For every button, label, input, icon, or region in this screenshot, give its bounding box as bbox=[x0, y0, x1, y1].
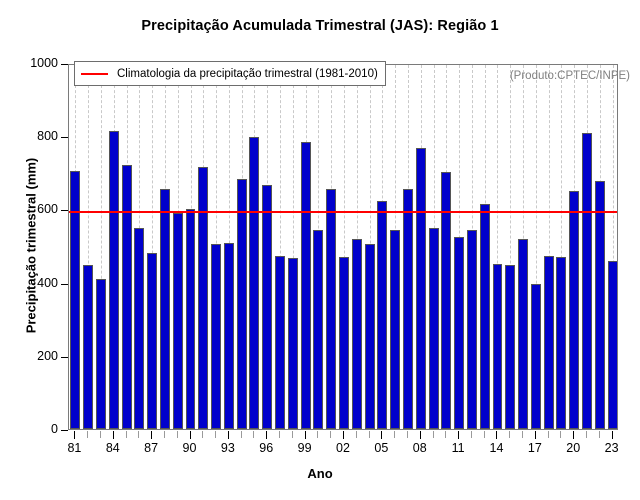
bar-87 bbox=[147, 253, 157, 429]
bar-83 bbox=[96, 279, 106, 429]
x-axis-tick bbox=[228, 431, 229, 439]
x-axis-tick bbox=[266, 431, 267, 439]
x-axis-tick bbox=[496, 431, 497, 439]
x-axis-tick bbox=[343, 431, 344, 439]
y-axis-tick-label: 800 bbox=[0, 129, 58, 143]
x-axis-tick-label: 93 bbox=[208, 441, 248, 455]
y-axis-tick-label: 400 bbox=[0, 276, 58, 290]
bar-15 bbox=[505, 265, 515, 429]
bar-21 bbox=[582, 133, 592, 429]
bar-08 bbox=[416, 148, 426, 429]
bar-11 bbox=[454, 237, 464, 429]
x-axis-tick bbox=[292, 431, 293, 438]
y-axis-tick-label: 0 bbox=[0, 422, 58, 436]
x-axis-tick bbox=[407, 431, 408, 438]
x-axis-tick bbox=[394, 431, 395, 438]
bar-00 bbox=[313, 230, 323, 429]
x-axis-tick bbox=[164, 431, 165, 438]
x-axis-tick bbox=[509, 431, 510, 438]
x-axis-tick bbox=[190, 431, 191, 439]
bar-97 bbox=[275, 256, 285, 429]
x-axis-tick bbox=[74, 431, 75, 439]
x-axis-tick bbox=[317, 431, 318, 438]
bar-01 bbox=[326, 189, 336, 429]
x-axis-tick-label: 11 bbox=[438, 441, 478, 455]
y-axis-tick-label: 1000 bbox=[0, 56, 58, 70]
bar-91 bbox=[198, 167, 208, 429]
legend-item-label: Climatologia da precipitação trimestral … bbox=[117, 68, 378, 80]
x-axis-tick bbox=[356, 431, 357, 438]
legend: Climatologia da precipitação trimestral … bbox=[74, 61, 386, 86]
bar-17 bbox=[531, 284, 541, 429]
x-axis-tick bbox=[535, 431, 536, 439]
y-axis-tick bbox=[61, 430, 68, 431]
page-title: Precipitação Acumulada Trimestral (JAS):… bbox=[0, 18, 640, 34]
x-axis-tick bbox=[202, 431, 203, 438]
bar-85 bbox=[122, 165, 132, 429]
x-axis-tick bbox=[612, 431, 613, 439]
y-axis-tick bbox=[61, 64, 68, 65]
x-axis-tick-label: 23 bbox=[592, 441, 632, 455]
bar-07 bbox=[403, 189, 413, 429]
bar-88 bbox=[160, 189, 170, 429]
x-axis-tick bbox=[586, 431, 587, 438]
x-axis-tick-label: 20 bbox=[553, 441, 593, 455]
x-axis-tick-label: 84 bbox=[93, 441, 133, 455]
bar-94 bbox=[237, 179, 247, 429]
bar-22 bbox=[595, 181, 605, 429]
bar-02 bbox=[339, 257, 349, 429]
x-axis-tick-label: 14 bbox=[476, 441, 516, 455]
x-axis-tick-label: 81 bbox=[54, 441, 94, 455]
x-axis-tick-label: 17 bbox=[515, 441, 555, 455]
x-axis-tick bbox=[573, 431, 574, 439]
bar-90 bbox=[186, 209, 196, 429]
bar-20 bbox=[569, 191, 579, 429]
bar-09 bbox=[429, 228, 439, 429]
bar-12 bbox=[467, 230, 477, 429]
bar-14 bbox=[493, 264, 503, 429]
x-axis-label: Ano bbox=[0, 466, 640, 481]
bar-93 bbox=[224, 243, 234, 429]
y-axis-tick bbox=[61, 284, 68, 285]
x-axis-tick bbox=[87, 431, 88, 438]
y-axis-label: Precipitação trimestral (mm) bbox=[24, 76, 39, 416]
x-axis-tick bbox=[548, 431, 549, 438]
x-axis-tick bbox=[522, 431, 523, 438]
y-axis-tick-label: 200 bbox=[0, 349, 58, 363]
x-axis-tick bbox=[330, 431, 331, 438]
x-axis-tick-label: 08 bbox=[400, 441, 440, 455]
bar-03 bbox=[352, 239, 362, 429]
y-axis-tick bbox=[61, 357, 68, 358]
x-axis-tick bbox=[433, 431, 434, 438]
y-axis-tick bbox=[61, 137, 68, 138]
x-axis-tick bbox=[445, 431, 446, 438]
x-axis-tick-label: 87 bbox=[131, 441, 171, 455]
x-axis-tick bbox=[560, 431, 561, 438]
x-axis-tick-label: 02 bbox=[323, 441, 363, 455]
bar-86 bbox=[134, 228, 144, 429]
x-axis-tick bbox=[420, 431, 421, 439]
bar-96 bbox=[262, 185, 272, 429]
bar-16 bbox=[518, 239, 528, 429]
bar-19 bbox=[556, 257, 566, 429]
x-axis-tick bbox=[215, 431, 216, 438]
x-axis-tick bbox=[138, 431, 139, 438]
plot-area bbox=[68, 64, 618, 430]
x-axis-tick-label: 99 bbox=[285, 441, 325, 455]
x-axis-tick-label: 90 bbox=[170, 441, 210, 455]
x-axis-tick bbox=[113, 431, 114, 439]
bar-95 bbox=[249, 137, 259, 429]
x-axis-tick bbox=[381, 431, 382, 439]
x-axis-tick bbox=[177, 431, 178, 438]
x-axis-tick bbox=[369, 431, 370, 438]
x-axis-tick bbox=[126, 431, 127, 438]
bar-89 bbox=[173, 213, 183, 429]
bar-13 bbox=[480, 204, 490, 429]
x-axis-tick-label: 05 bbox=[361, 441, 401, 455]
bar-23 bbox=[608, 261, 618, 429]
producer-credit: (Produto:CPTEC/INPE) bbox=[510, 70, 630, 82]
bar-04 bbox=[365, 244, 375, 429]
bar-18 bbox=[544, 256, 554, 429]
bar-99 bbox=[301, 142, 311, 429]
y-axis-tick-label: 600 bbox=[0, 202, 58, 216]
x-axis-tick-label: 96 bbox=[246, 441, 286, 455]
bar-05 bbox=[377, 201, 387, 429]
legend-line-swatch bbox=[81, 73, 108, 75]
bar-84 bbox=[109, 131, 119, 429]
x-axis-tick bbox=[599, 431, 600, 438]
bar-82 bbox=[83, 265, 93, 429]
x-axis-tick bbox=[241, 431, 242, 438]
y-axis-tick bbox=[61, 210, 68, 211]
x-axis-tick bbox=[151, 431, 152, 439]
x-axis-tick bbox=[471, 431, 472, 438]
x-axis-tick bbox=[305, 431, 306, 439]
x-axis-tick bbox=[100, 431, 101, 438]
bar-98 bbox=[288, 258, 298, 429]
chart-figure: Precipitação Acumulada Trimestral (JAS):… bbox=[0, 0, 640, 500]
bar-06 bbox=[390, 230, 400, 429]
x-axis-tick bbox=[253, 431, 254, 438]
bar-92 bbox=[211, 244, 221, 429]
x-axis-tick bbox=[279, 431, 280, 438]
climatology-reference-line bbox=[69, 211, 617, 213]
x-axis-tick bbox=[458, 431, 459, 439]
x-axis-tick bbox=[484, 431, 485, 438]
